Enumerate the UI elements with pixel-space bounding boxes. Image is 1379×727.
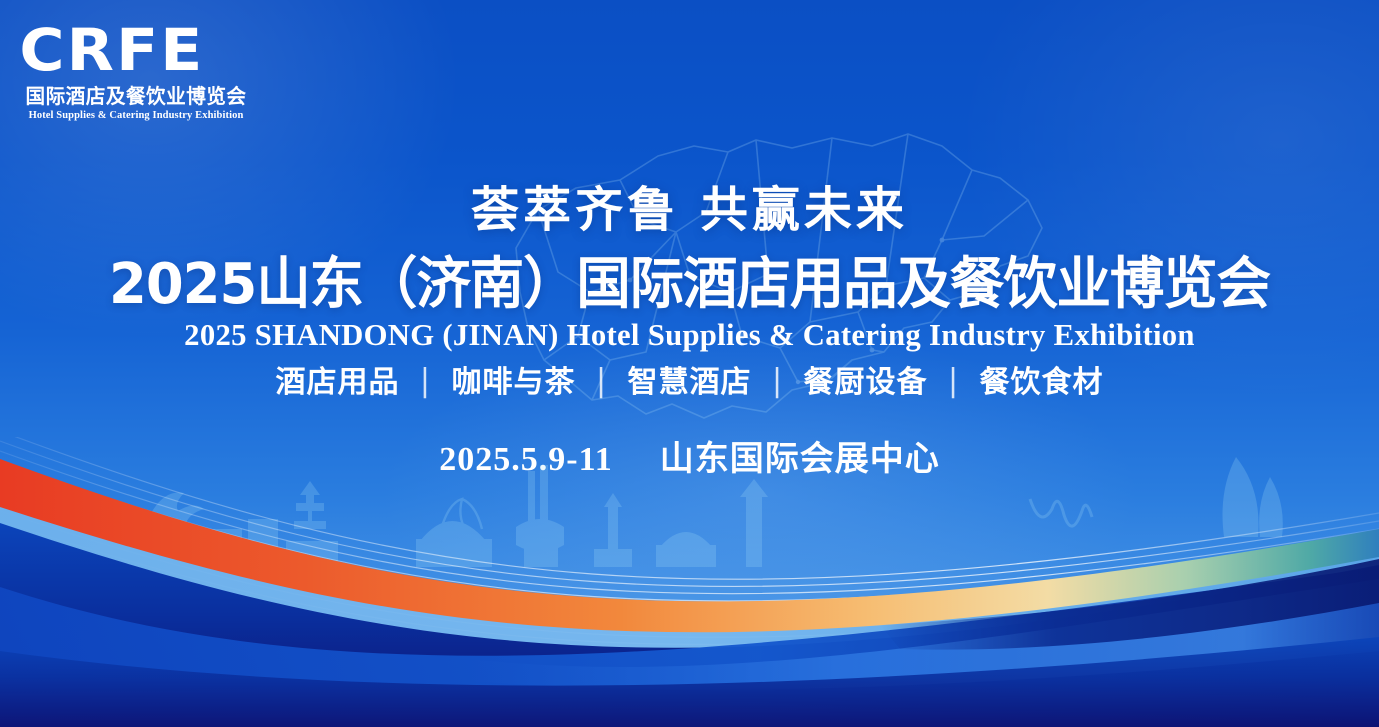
- logo-chinese-name: 国际酒店及餐饮业博览会: [18, 84, 253, 108]
- event-tagline: 荟萃齐鲁 共赢未来: [0, 182, 1379, 238]
- logo-wordmark: CRFE: [9, 20, 263, 80]
- category-item-0: 酒店用品: [275, 365, 399, 400]
- category-list: 酒店用品 | 咖啡与茶 | 智慧酒店 | 餐厨设备 | 餐饮食材: [0, 363, 1379, 403]
- category-item-3: 餐厨设备: [804, 365, 928, 400]
- event-title-chinese: 2025山东（济南）国际酒店用品及餐饮业博览会: [21, 253, 1359, 317]
- crfe-logo: CRFE 国际酒店及餐饮业博览会 Hotel Supplies & Cateri…: [16, 20, 256, 123]
- category-separator: |: [411, 360, 440, 402]
- category-separator: |: [763, 360, 792, 402]
- event-title-english: 2025 SHANDONG (JINAN) Hotel Supplies & C…: [7, 316, 1372, 354]
- category-item-1: 咖啡与茶: [451, 365, 575, 400]
- category-item-4: 餐饮食材: [980, 365, 1104, 400]
- category-separator: |: [587, 360, 616, 402]
- logo-english-name: Hotel Supplies & Catering Industry Exhib…: [16, 109, 256, 123]
- category-separator: |: [939, 360, 968, 402]
- event-date-venue: 2025.5.9-11 山东国际会展中心: [0, 438, 1379, 482]
- exhibition-banner: CRFE 国际酒店及餐饮业博览会 Hotel Supplies & Cateri…: [0, 0, 1379, 727]
- event-date: 2025.5.9-11: [439, 441, 612, 478]
- category-item-2: 智慧酒店: [628, 365, 752, 400]
- event-venue: 山东国际会展中心: [660, 441, 940, 478]
